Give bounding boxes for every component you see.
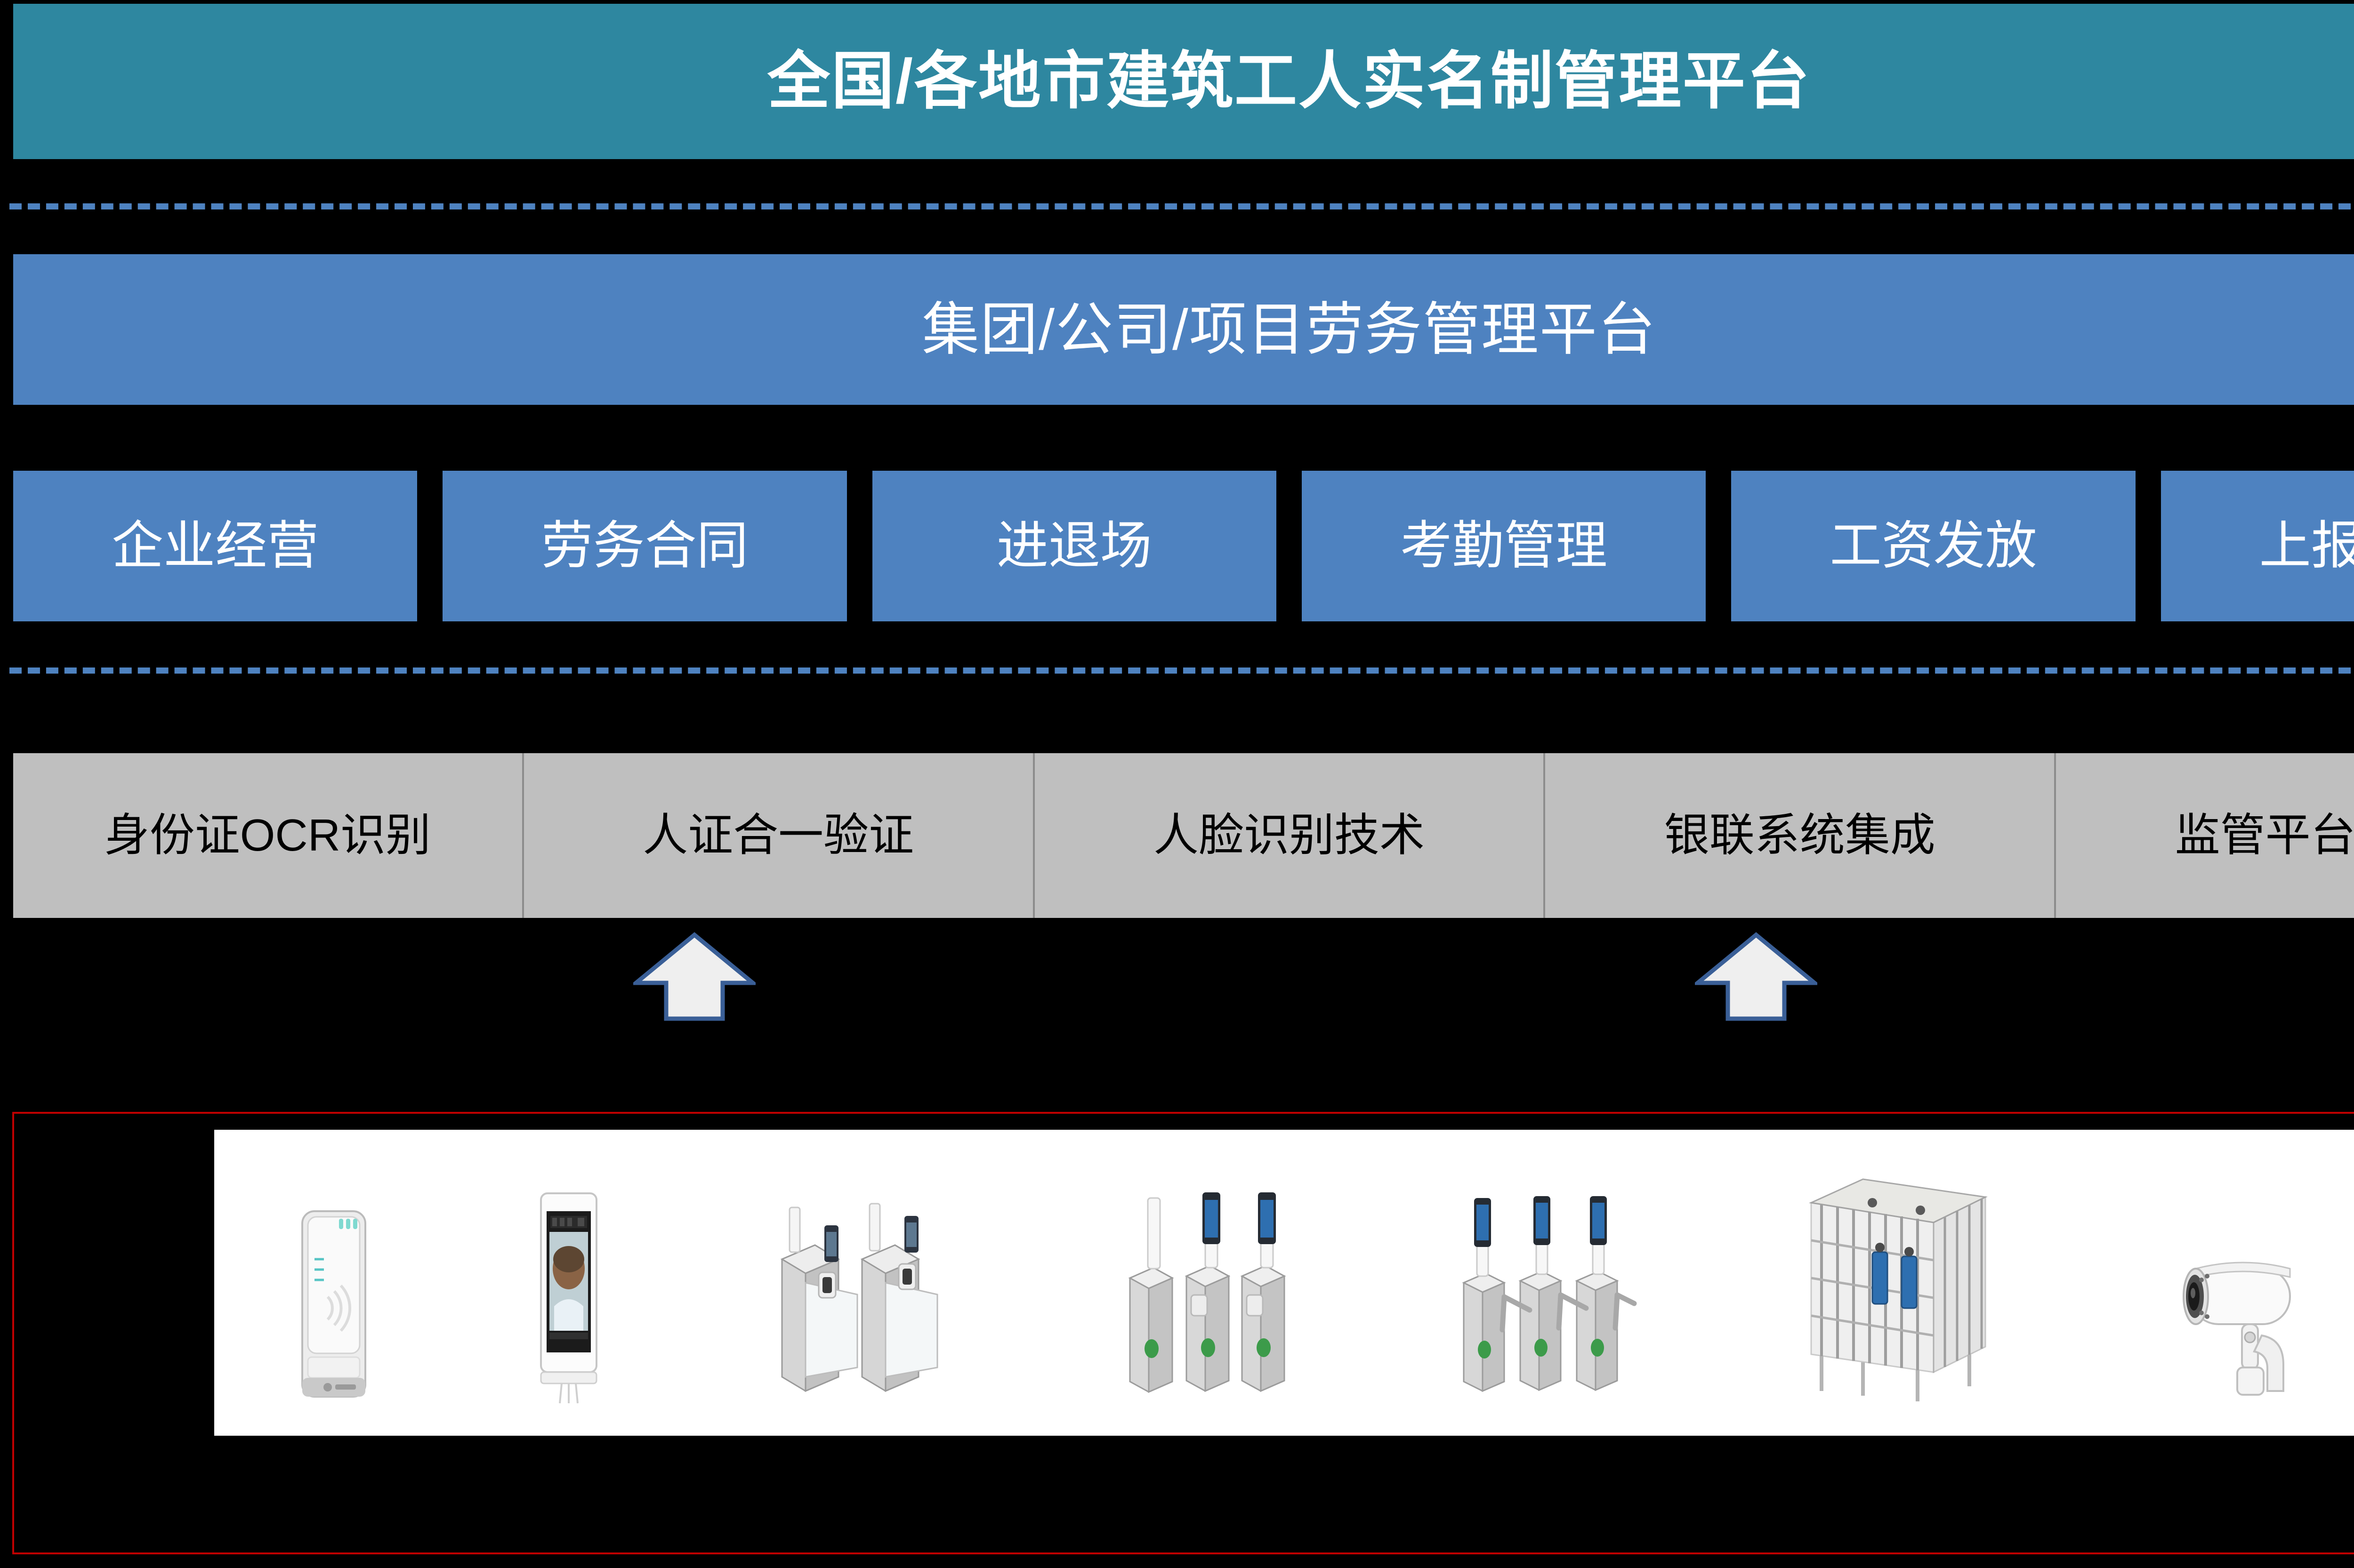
arrow-up-icon — [1695, 932, 1817, 1021]
module-reporting-integration[interactable]: 上报对接 — [2161, 471, 2354, 621]
divider-national-enterprise — [9, 203, 2354, 209]
cctv-bullet-camera-icon — [2154, 1160, 2329, 1405]
enterprise-platform-label: 集团/公司/项目劳务管理平台 — [922, 301, 1656, 358]
national-platform-bar: 全国/各地市建筑工人实名制管理平台 — [13, 4, 2354, 159]
national-platform-label: 全国/各地市建筑工人实名制管理平台 — [767, 50, 1811, 113]
tech-label: 银联系统集成 — [1664, 813, 1935, 858]
swing-barrier-gate-icon — [763, 1160, 961, 1405]
tech-regulator-interface[interactable]: 监管平台接口 — [2056, 753, 2354, 918]
divider-platform-technology — [9, 667, 2354, 674]
tech-face-recognition[interactable]: 人脸识别技术 — [1035, 753, 1546, 918]
speed-gate-pedestal-icon — [1121, 1160, 1290, 1405]
module-label: 考勤管理 — [1400, 520, 1607, 572]
iot-device-panel — [214, 1130, 2354, 1436]
tech-person-cert-match[interactable]: 人证合一验证 — [524, 753, 1035, 918]
tech-id-card-ocr[interactable]: 身份证OCR识别 — [13, 753, 524, 918]
technology-strip: 身份证OCR识别 人证合一验证 人脸识别技术 银联系统集成 监管平台接口 — [13, 753, 2354, 918]
module-label: 上报对接 — [2259, 520, 2354, 572]
arrow-up-icon — [633, 932, 756, 1021]
module-label: 工资发放 — [1830, 520, 2037, 572]
module-enterprise-operation[interactable]: 企业经营 — [13, 471, 417, 621]
module-labor-contract[interactable]: 劳务合同 — [443, 471, 846, 621]
full-height-turnstile-icon — [1797, 1160, 1995, 1405]
module-attendance[interactable]: 考勤管理 — [1302, 471, 1706, 621]
face-recognition-terminal-icon — [533, 1160, 604, 1405]
tech-label: 身份证OCR识别 — [105, 813, 431, 858]
tech-label: 人脸识别技术 — [1153, 813, 1425, 858]
module-label: 企业经营 — [112, 520, 319, 572]
tech-label: 人证合一验证 — [643, 813, 914, 858]
module-entry-exit[interactable]: 进退场 — [872, 471, 1276, 621]
module-payroll[interactable]: 工资发放 — [1731, 471, 2135, 621]
tech-label: 监管平台接口 — [2175, 813, 2354, 858]
tripod-turnstile-array-icon — [1450, 1160, 1638, 1405]
enterprise-platform-bar: 集团/公司/项目劳务管理平台 — [13, 254, 2354, 405]
module-label: 进退场 — [997, 520, 1152, 572]
module-row: 企业经营 劳务合同 进退场 考勤管理 工资发放 上报对接 — [13, 471, 2354, 621]
tech-unionpay-integration[interactable]: 银联系统集成 — [1545, 753, 2056, 918]
id-card-reader-icon — [294, 1160, 374, 1405]
module-label: 劳务合同 — [541, 520, 748, 572]
